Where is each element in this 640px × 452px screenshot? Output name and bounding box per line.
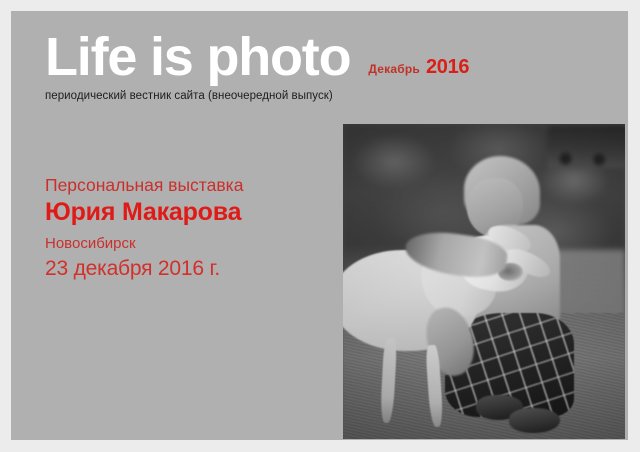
issue-date: Декабрь2016 — [368, 56, 469, 79]
issue-month-label: Декабрь — [368, 62, 420, 76]
event-date-label: 23 декабря 2016 г. — [45, 255, 315, 282]
exhibition-info-block: Персональная выставка Юрия Макарова Ново… — [45, 173, 315, 282]
masthead: Life is photo Декабрь2016 периодический … — [45, 29, 605, 102]
issue-year-label: 2016 — [426, 56, 469, 78]
poster-canvas: Life is photo Декабрь2016 периодический … — [0, 0, 640, 452]
poster-panel: Life is photo Декабрь2016 периодический … — [11, 11, 628, 440]
photo-girl-sandal-right — [509, 408, 560, 433]
masthead-row: Life is photo Декабрь2016 — [45, 29, 605, 85]
city-label: Новосибирск — [45, 234, 315, 254]
photo-vehicle — [547, 126, 625, 168]
exhibition-kind-label: Персональная выставка — [45, 173, 315, 197]
feature-photograph — [343, 124, 625, 439]
page-title: Life is photo — [45, 29, 350, 85]
brand-tagline: периодический вестник сайта (внеочередно… — [45, 90, 605, 102]
artist-name-label: Юрия Макарова — [45, 197, 315, 228]
